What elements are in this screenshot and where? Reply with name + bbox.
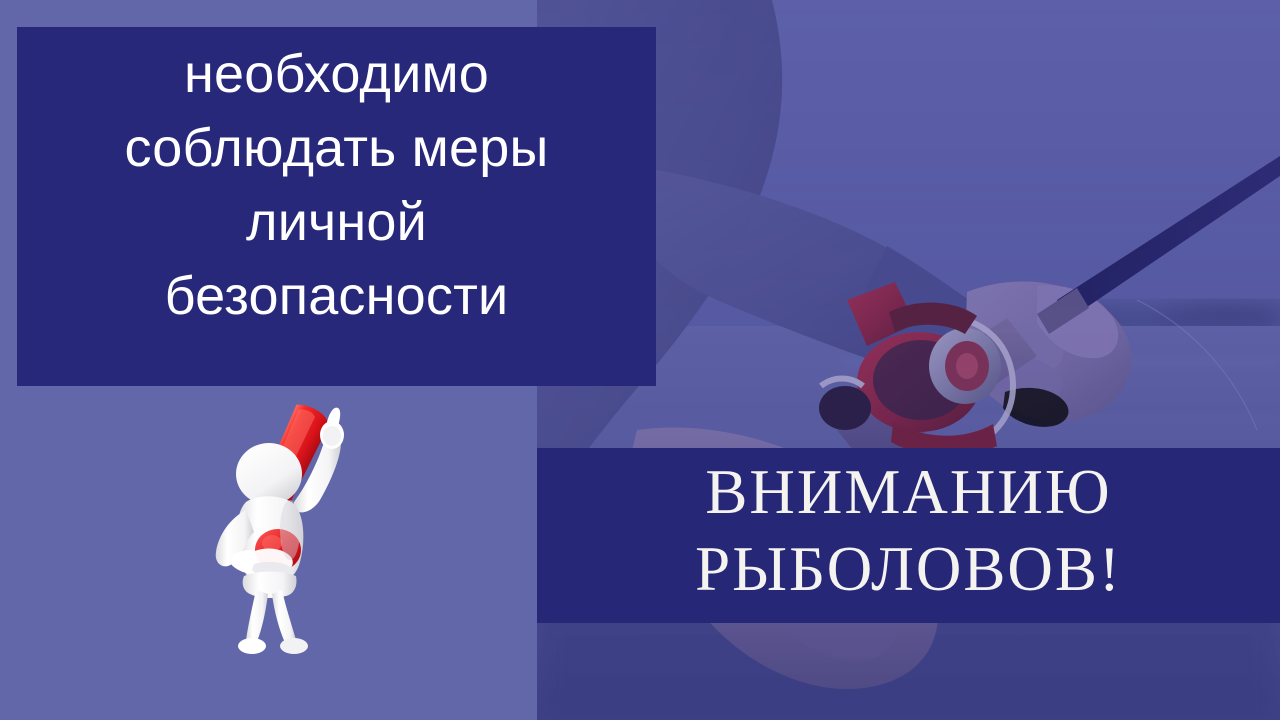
poster-canvas: ВНИМАНИЮ РЫБОЛОВОВ! необходимо соблюдать…: [0, 0, 1280, 720]
exclamation-figure: [186, 390, 366, 655]
headline-line-2: РЫБОЛОВОВ!: [537, 531, 1280, 608]
safety-line-1: необходимо: [3, 37, 670, 111]
safety-line-4: безопасности: [3, 259, 670, 333]
safety-line-2: соблюдать меры: [3, 111, 670, 185]
attention-headline-text: ВНИМАНИЮ РЫБОЛОВОВ!: [537, 454, 1280, 608]
safety-message-box: необходимо соблюдать меры личной безопас…: [17, 27, 656, 386]
attention-headline-bar: ВНИМАНИЮ РЫБОЛОВОВ!: [537, 448, 1280, 623]
headline-line-1: ВНИМАНИЮ: [537, 454, 1280, 531]
safety-line-3: личной: [3, 185, 670, 259]
safety-message-text: необходимо соблюдать меры личной безопас…: [3, 37, 670, 333]
